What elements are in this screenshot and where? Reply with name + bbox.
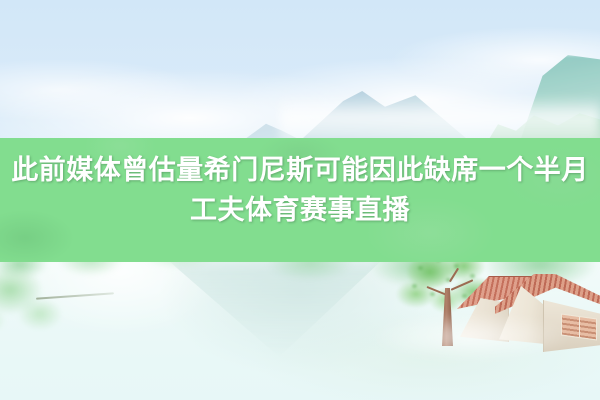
page-title: 此前媒体曾估量希门尼斯可能因此缺席一个半月工夫体育赛事直播 xyxy=(0,150,600,230)
foliage-left xyxy=(0,262,100,346)
leaf-dot xyxy=(430,292,435,296)
mountain-mist xyxy=(280,96,600,142)
scene-haze xyxy=(330,302,600,372)
landscape-foreground: ⌃ xyxy=(0,262,600,400)
leaf-dot xyxy=(412,284,417,288)
leaf-dot xyxy=(418,266,423,270)
banner-image: 此前媒体曾估量希门尼斯可能因此缺席一个半月工夫体育赛事直播 xyxy=(0,0,600,400)
